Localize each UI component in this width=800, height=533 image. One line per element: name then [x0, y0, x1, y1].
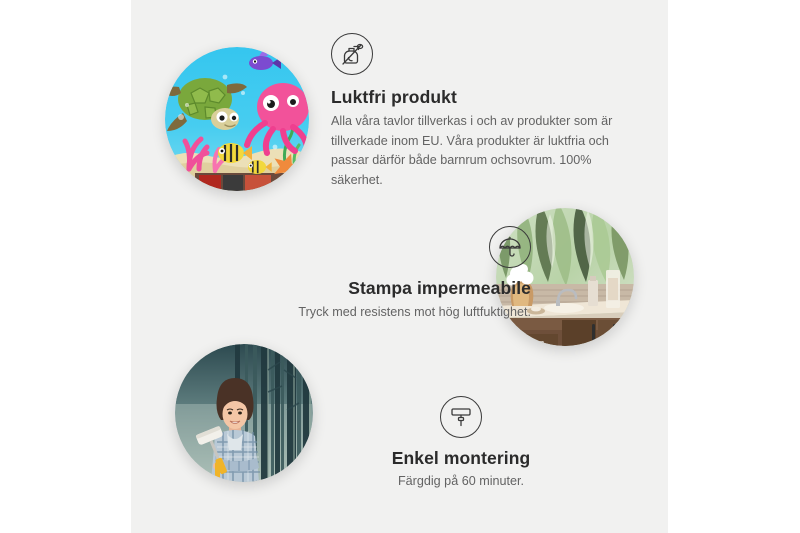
paint-roller-icon [440, 396, 482, 438]
feature-body: Färgdig på 60 minuter. [331, 472, 591, 492]
promo-banner: Luktfri produkt Alla våra tavlor tillver… [0, 0, 800, 533]
feature-title: Enkel montering [331, 448, 591, 469]
feature-title: Luktfri produkt [331, 87, 641, 108]
feature-body: Alla våra tavlor tillverkas i och av pro… [331, 112, 641, 190]
feature-body: Tryck med resistens mot hög luftfuktighe… [191, 303, 531, 323]
umbrella-icon [489, 226, 531, 268]
no-spray-bottle-icon [331, 33, 373, 75]
woman-with-paint-roller-forest-photo [175, 344, 313, 482]
feature-block-stampa-impermeabile: Stampa impermeabile Tryck med resistens … [191, 226, 531, 323]
feature-block-luktfri-produkt: Luktfri produkt Alla våra tavlor tillver… [331, 33, 641, 190]
feature-title: Stampa impermeabile [191, 278, 531, 299]
underwater-cartoon-mural-photo [165, 47, 309, 191]
feature-block-enkel-montering: Enkel montering Färgdig på 60 minuter. [331, 396, 591, 492]
promo-panel: Luktfri produkt Alla våra tavlor tillver… [131, 0, 668, 533]
